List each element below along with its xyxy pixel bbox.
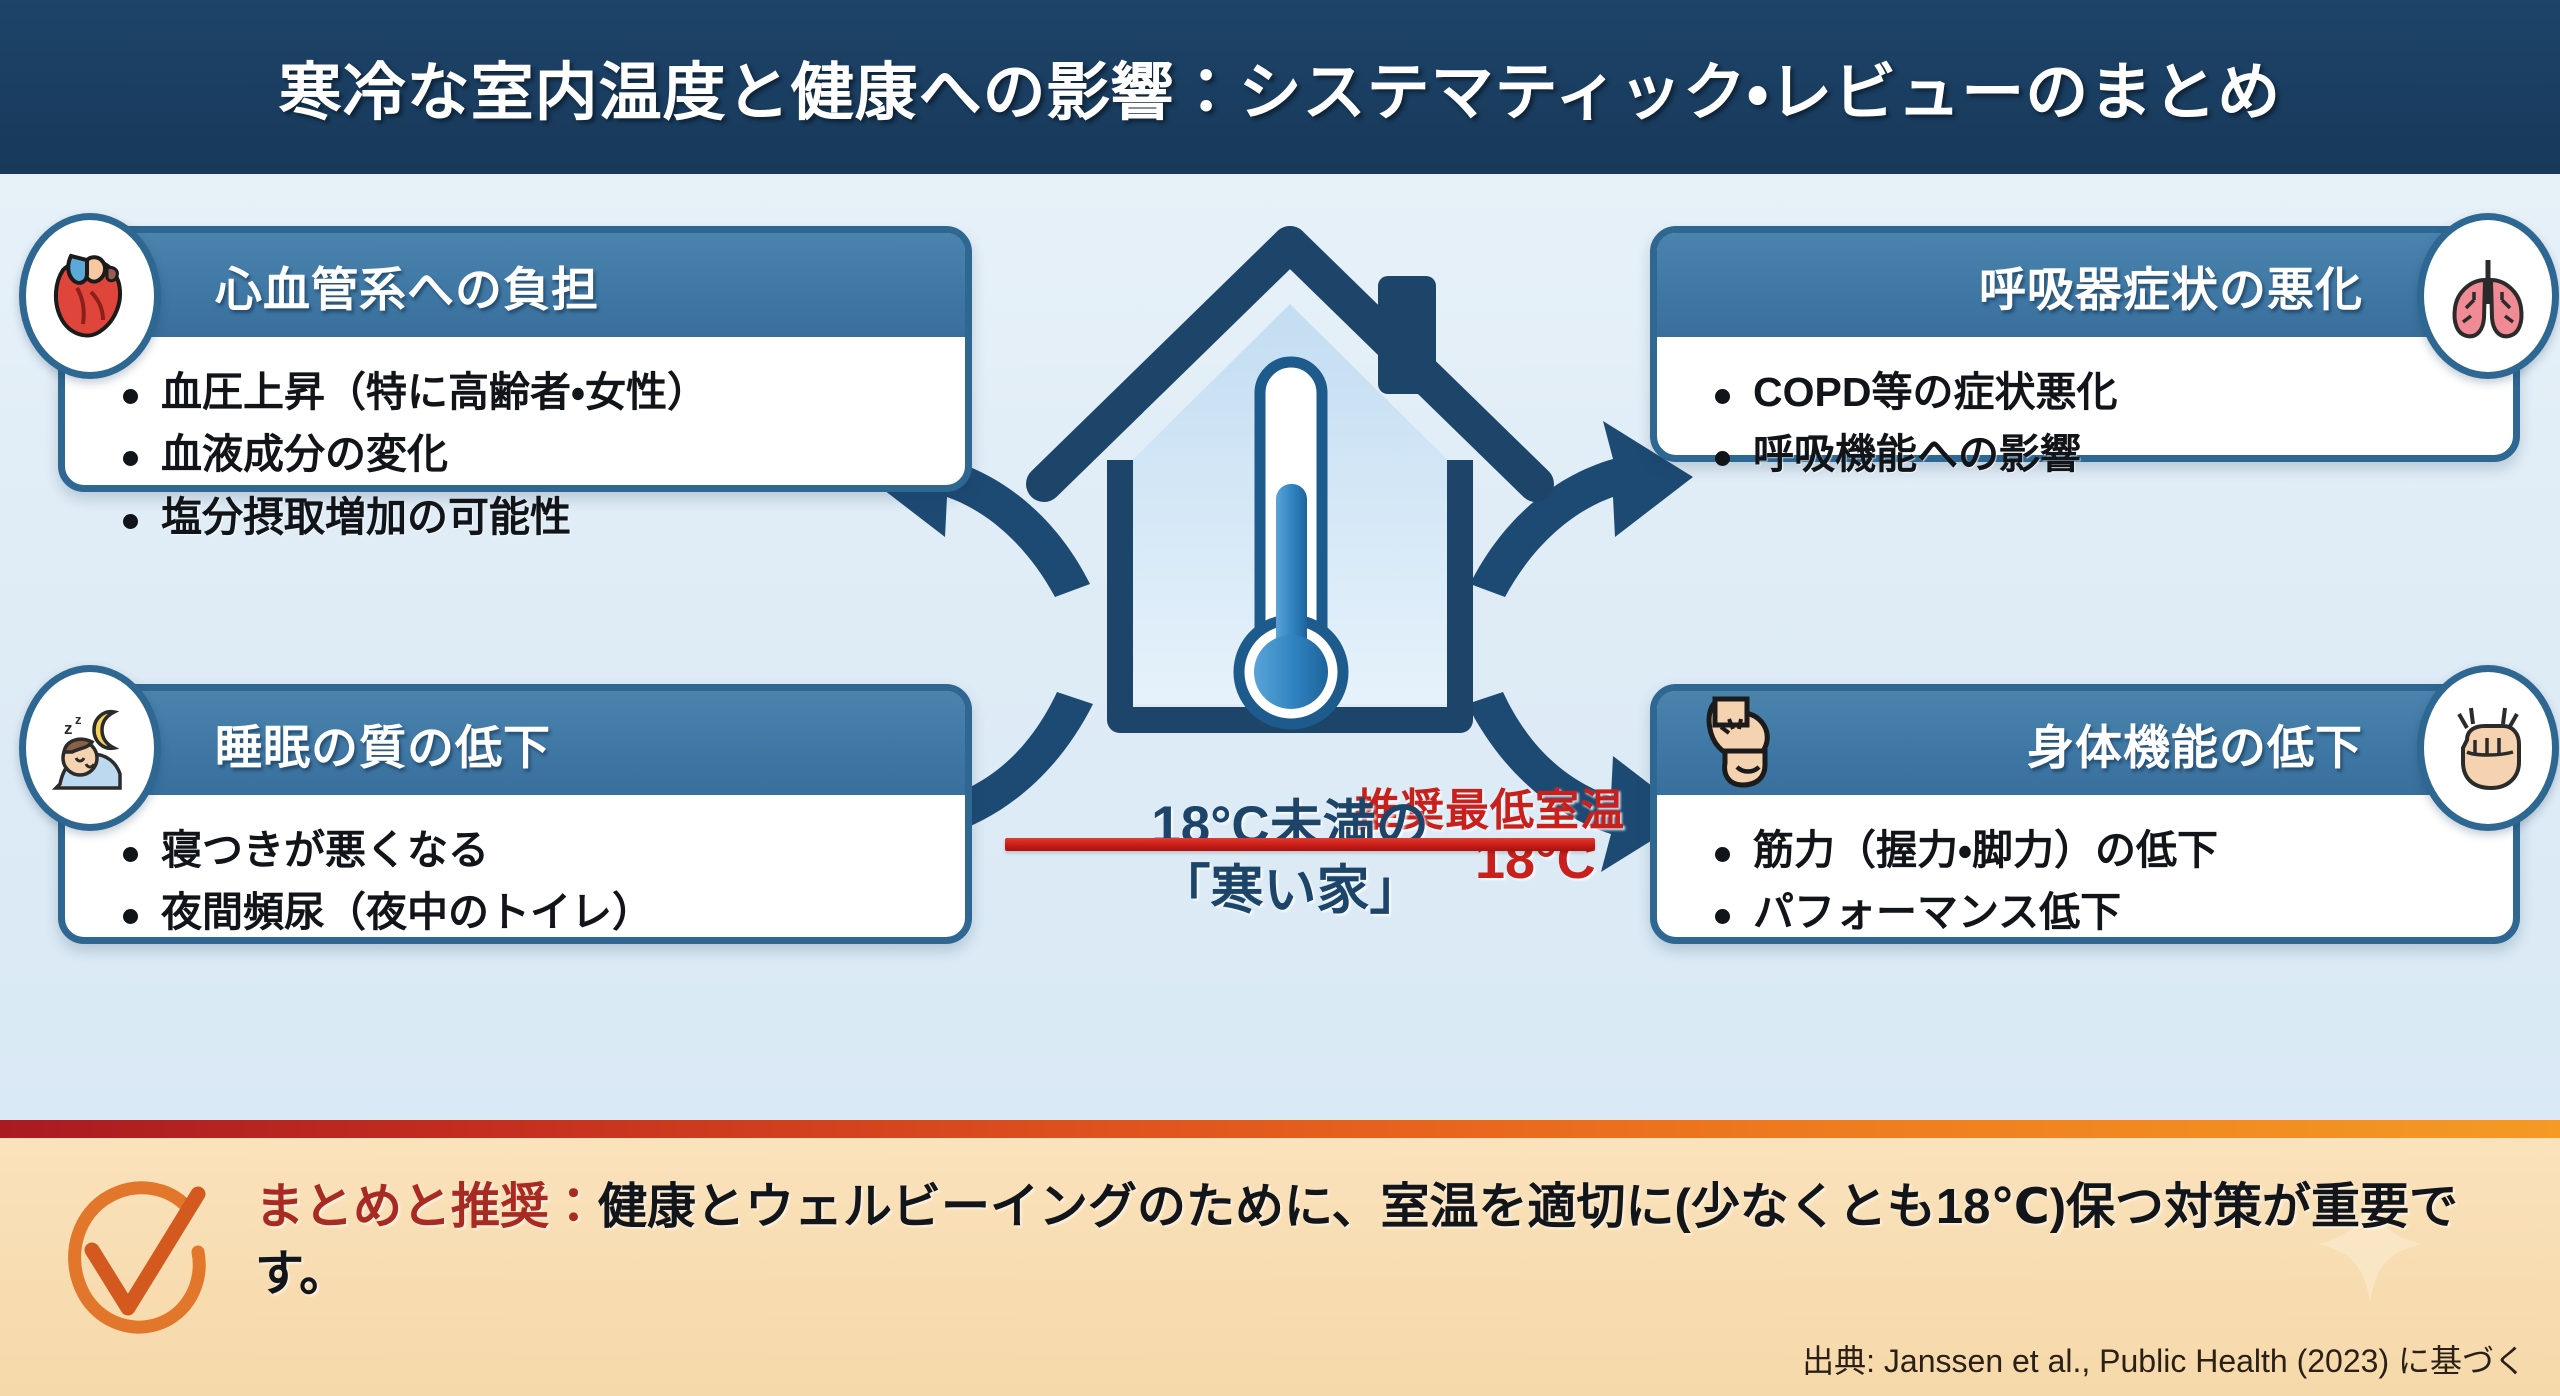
heart-icon bbox=[19, 213, 161, 379]
card-physical-function[interactable]: 身体機能の低下 筋力（握力・脚力）の低下 パフォーマンス低下 bbox=[1650, 684, 2520, 944]
card-title: 身体機能の低下 bbox=[2027, 709, 2363, 778]
list-item: 血液成分の変化 bbox=[117, 423, 931, 485]
card-title: 心血管系への負担 bbox=[215, 251, 599, 320]
sleeping-person-icon: z z bbox=[19, 665, 161, 831]
card-body-physical-function: 筋力（握力・脚力）の低下 パフォーマンス低下 bbox=[1657, 795, 2513, 970]
check-circle-icon bbox=[48, 1174, 218, 1354]
card-header-sleep: 睡眠の質の低下 bbox=[65, 691, 965, 795]
house-caption: 18°C未満の 「寒い家」 bbox=[980, 794, 1600, 923]
infographic-poster: 寒冷な室内温度と健康への影響：システマティック・レビューのまとめ bbox=[0, 0, 2560, 1396]
card-body-sleep: 寝つきが悪くなる 夜間頻尿（夜中のトイレ） bbox=[65, 795, 965, 970]
source-citation: 出典: Janssen et al., Public Health (2023)… bbox=[1802, 1336, 2526, 1382]
list-item: 寝つきが悪くなる bbox=[117, 819, 931, 881]
list-item: 血圧上昇（特に高齢者・女性） bbox=[117, 361, 931, 423]
card-header-respiratory: 呼吸器症状の悪化 bbox=[1657, 233, 2513, 337]
list-item: 呼吸機能への影響 bbox=[1709, 423, 2479, 485]
svg-text:z: z bbox=[75, 712, 82, 727]
list-item: COPD等の症状悪化 bbox=[1709, 361, 2479, 423]
diagram-stage: 推奨最低室温 18°C 18°C未満の 「寒い家」 心血管系への負担 bbox=[0, 174, 2560, 1120]
poster-header: 寒冷な室内温度と健康への影響：システマティック・レビューのまとめ bbox=[0, 0, 2560, 174]
bullet-list: 筋力（握力・脚力）の低下 パフォーマンス低下 bbox=[1709, 819, 2479, 944]
svg-text:z: z bbox=[64, 719, 73, 738]
accent-stripe bbox=[0, 1120, 2560, 1138]
list-item: 塩分摂取増加の可能性 bbox=[117, 486, 931, 548]
fist-icon bbox=[2417, 665, 2559, 831]
card-body-respiratory: COPD等の症状悪化 呼吸機能への影響 bbox=[1657, 337, 2513, 512]
card-header-physical-function: 身体機能の低下 bbox=[1657, 691, 2513, 795]
card-sleep[interactable]: z z 睡眠の質の低下 寝つきが悪くなる 夜間頻尿（夜中のトイレ） bbox=[58, 684, 972, 944]
card-respiratory[interactable]: 呼吸器症状の悪化 COPD等の症状悪化 呼吸機能への影響 bbox=[1650, 226, 2520, 462]
card-title: 睡眠の質の低下 bbox=[215, 709, 551, 778]
flexed-biceps-icon bbox=[1685, 685, 1797, 802]
list-item: 夜間頻尿（夜中のトイレ） bbox=[117, 881, 931, 943]
house-caption-line2: 「寒い家」 bbox=[980, 859, 1600, 924]
house-thermometer-icon bbox=[980, 184, 1600, 804]
recommended-minimum-line bbox=[1005, 838, 1595, 851]
card-cardiovascular[interactable]: 心血管系への負担 血圧上昇（特に高齢者・女性） 血液成分の変化 塩分摂取増加の可… bbox=[58, 226, 972, 492]
bullet-list: 血圧上昇（特に高齢者・女性） 血液成分の変化 塩分摂取増加の可能性 bbox=[117, 361, 931, 548]
bullet-list: COPD等の症状悪化 呼吸機能への影響 bbox=[1709, 361, 2479, 486]
list-item: 筋力（握力・脚力）の低下 bbox=[1709, 819, 2479, 881]
bullet-list: 寝つきが悪くなる 夜間頻尿（夜中のトイレ） bbox=[117, 819, 931, 944]
card-title: 呼吸器症状の悪化 bbox=[1979, 251, 2363, 320]
summary-lead: まとめと推奨： bbox=[255, 1180, 598, 1234]
card-header-cardiovascular: 心血管系への負担 bbox=[65, 233, 965, 337]
summary-text: まとめと推奨：健康とウェルビーイングのために、室温を適切に(少なくとも18℃)保… bbox=[255, 1174, 2535, 1307]
lungs-icon bbox=[2417, 213, 2559, 379]
page-title: 寒冷な室内温度と健康への影響：システマティック・レビューのまとめ bbox=[279, 42, 2282, 133]
card-body-cardiovascular: 血圧上昇（特に高齢者・女性） 血液成分の変化 塩分摂取増加の可能性 bbox=[65, 337, 965, 574]
list-item: パフォーマンス低下 bbox=[1709, 881, 2479, 943]
summary-band: まとめと推奨：健康とウェルビーイングのために、室温を適切に(少なくとも18℃)保… bbox=[0, 1138, 2560, 1396]
